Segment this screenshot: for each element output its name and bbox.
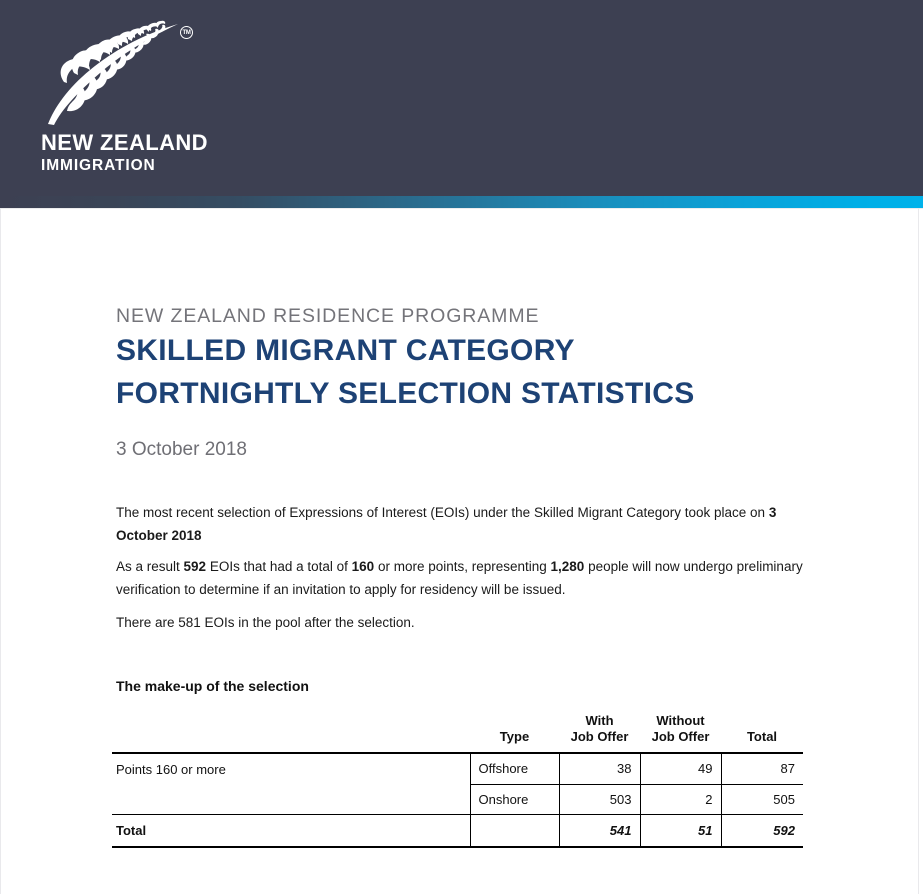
table-header-row: Type With Job Offer Without Job Offer To…	[112, 707, 803, 753]
without-job-offer-line-2: Job Offer	[652, 729, 710, 744]
programme-eyebrow: NEW ZEALAND RESIDENCE PROGRAMME	[116, 305, 539, 328]
row-total: 87	[721, 754, 803, 784]
row-without-job-offer: 49	[640, 754, 721, 784]
table-bottom-rule	[112, 847, 803, 848]
row-type: Offshore	[470, 754, 559, 784]
page-title-line-2: FORTNIGHTLY SELECTION STATISTICS	[116, 377, 695, 411]
para2-points: 160	[352, 559, 375, 574]
document-page: TM NEW ZEALAND IMMIGRATION NEW ZEALAND R…	[0, 0, 923, 894]
page-left-edge	[0, 208, 1, 894]
total-with-job-offer: 541	[559, 815, 640, 847]
logo-title: NEW ZEALAND	[41, 130, 208, 156]
row-label	[112, 784, 470, 814]
para2-text-c: EOIs that had a total of	[206, 559, 352, 574]
selection-makeup-table: Type With Job Offer Without Job Offer To…	[112, 707, 803, 848]
row-type: Onshore	[470, 784, 559, 814]
paragraph-pool: There are 581 EOIs in the pool after the…	[116, 611, 806, 634]
page-title-line-1: SKILLED MIGRANT CATEGORY	[116, 334, 575, 368]
page-header-band: TM NEW ZEALAND IMMIGRATION	[0, 0, 923, 196]
row-with-job-offer: 38	[559, 754, 640, 784]
para2-text-a: As a result	[116, 559, 184, 574]
para2-eoi-count: 592	[184, 559, 207, 574]
table-total-row: Total 541 51 592	[112, 815, 803, 847]
trademark-icon: TM	[180, 26, 193, 39]
total-grand-total: 592	[721, 815, 803, 847]
table-heading: The make-up of the selection	[116, 678, 309, 694]
paragraph-selection-date: The most recent selection of Expressions…	[116, 501, 806, 547]
total-type	[470, 815, 559, 847]
total-without-job-offer: 51	[640, 815, 721, 847]
row-total: 505	[721, 784, 803, 814]
row-without-job-offer: 2	[640, 784, 721, 814]
column-header-total: Total	[721, 707, 803, 753]
paragraph-result: As a result 592 EOIs that had a total of…	[116, 555, 806, 601]
with-job-offer-line-2: Job Offer	[571, 729, 629, 744]
page-right-edge	[918, 208, 919, 894]
para2-people-count: 1,280	[551, 559, 585, 574]
without-job-offer-line-1: Without	[656, 713, 704, 728]
column-header-without-job-offer: Without Job Offer	[640, 707, 721, 753]
row-with-job-offer: 503	[559, 784, 640, 814]
para2-text-e: or more points, representing	[374, 559, 550, 574]
table-row: Onshore 503 2 505	[112, 784, 803, 814]
logo-subtitle: IMMIGRATION	[41, 157, 156, 175]
with-job-offer-line-1: With	[585, 713, 613, 728]
column-header-label	[112, 707, 470, 753]
nz-immigration-logo: TM NEW ZEALAND IMMIGRATION	[38, 18, 238, 173]
page-top-edge	[0, 208, 923, 209]
para1-text-a: The most recent selection of Expressions…	[116, 505, 769, 520]
column-header-type: Type	[470, 707, 559, 753]
row-label: Points 160 or more	[112, 754, 470, 784]
document-date: 3 October 2018	[116, 439, 247, 461]
column-header-with-job-offer: With Job Offer	[559, 707, 640, 753]
table-row: Points 160 or more Offshore 38 49 87	[112, 754, 803, 784]
accent-gradient-bar	[0, 196, 923, 208]
total-label: Total	[112, 815, 470, 847]
